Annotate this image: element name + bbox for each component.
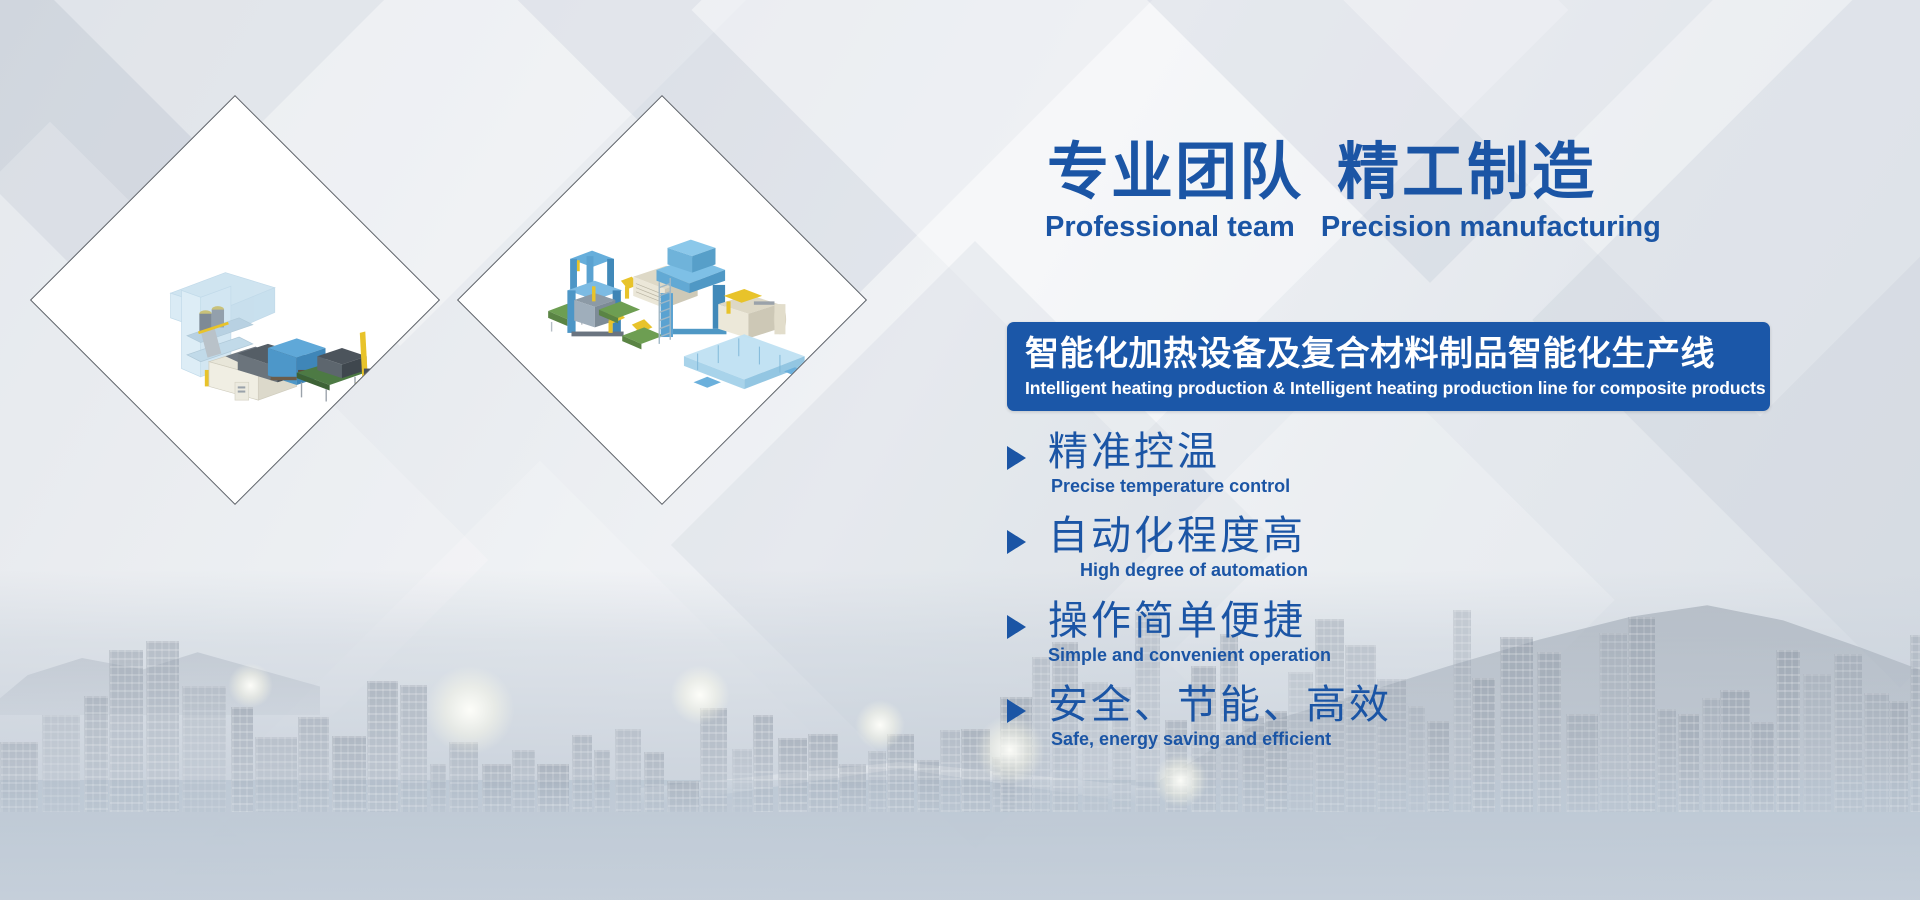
triangle-bullet-icon xyxy=(1007,615,1026,639)
banner-content: 专业团队 精工制造 Professional team Precision ma… xyxy=(1007,140,1807,244)
building xyxy=(182,686,226,812)
building xyxy=(594,750,610,812)
feature-3-cn: 操作简单便捷 xyxy=(1048,599,1331,644)
feature-item-2: 自动化程度高 High degree of automation xyxy=(1007,514,1767,580)
feature-2-cn: 自动化程度高 xyxy=(1048,514,1308,559)
building xyxy=(667,781,698,812)
building xyxy=(732,749,753,812)
feature-item-3: 操作简单便捷 Simple and convenient operation xyxy=(1007,599,1767,665)
building xyxy=(1803,674,1831,812)
building xyxy=(84,696,108,812)
diamond-photo-left xyxy=(30,95,440,505)
triangle-bullet-icon xyxy=(1007,446,1026,470)
production-line-illustration-left xyxy=(91,95,379,505)
building xyxy=(367,681,397,812)
building xyxy=(615,729,641,812)
building xyxy=(255,737,297,812)
feature-3-en: Simple and convenient operation xyxy=(1048,645,1331,666)
building xyxy=(109,650,143,812)
building xyxy=(512,750,535,812)
building xyxy=(1864,693,1889,812)
building xyxy=(1776,650,1800,812)
building xyxy=(537,764,569,812)
diamond-photo-right xyxy=(457,95,867,505)
building xyxy=(400,685,427,812)
feature-4-cn: 安全、节能、高效 xyxy=(1048,683,1392,728)
light-glow xyxy=(1153,753,1208,808)
building xyxy=(231,707,253,812)
building xyxy=(778,738,807,812)
light-glow xyxy=(670,665,730,725)
product-title-en: Intelligent heating production & Intelli… xyxy=(1025,378,1752,399)
building xyxy=(146,641,179,812)
headline-en-part1: Professional team xyxy=(1045,212,1295,244)
triangle-bullet-icon xyxy=(1007,530,1026,554)
building xyxy=(0,742,38,812)
feature-item-1: 精准控温 Precise temperature control xyxy=(1007,430,1767,496)
building xyxy=(808,734,838,812)
feature-list: 精准控温 Precise temperature control 自动化程度高 … xyxy=(1007,430,1767,750)
feature-1-cn: 精准控温 xyxy=(1048,430,1290,475)
building xyxy=(868,751,886,812)
building xyxy=(572,735,592,812)
building xyxy=(644,752,664,812)
building xyxy=(430,764,446,812)
building xyxy=(298,717,329,812)
promo-banner: 专业团队 精工制造 Professional team Precision ma… xyxy=(0,0,1920,900)
building xyxy=(917,760,939,812)
building xyxy=(482,764,510,812)
product-title-bar: 智能化加热设备及复合材料制品智能化生产线 Intelligent heating… xyxy=(1007,322,1770,411)
headline-english: Professional team Precision manufacturin… xyxy=(1007,212,1807,244)
building xyxy=(42,715,80,812)
building xyxy=(839,764,867,812)
building xyxy=(1889,701,1907,812)
light-glow xyxy=(425,665,515,755)
headline-en-part2: Precision manufacturing xyxy=(1321,212,1661,244)
light-glow xyxy=(855,700,905,750)
building xyxy=(332,736,366,812)
building xyxy=(1834,654,1861,812)
headline-cn-part1: 专业团队 xyxy=(1047,140,1303,206)
light-glow xyxy=(228,663,273,708)
building xyxy=(1910,635,1920,812)
building xyxy=(940,730,960,812)
feature-1-en: Precise temperature control xyxy=(1051,476,1290,497)
triangle-bullet-icon xyxy=(1007,699,1026,723)
production-line-illustration-right xyxy=(518,95,806,505)
feature-4-en: Safe, energy saving and efficient xyxy=(1051,729,1392,750)
headline-chinese: 专业团队 精工制造 xyxy=(1007,140,1807,206)
building xyxy=(753,715,773,812)
feature-2-en: High degree of automation xyxy=(1080,560,1308,581)
headline-cn-part2: 精工制造 xyxy=(1337,140,1597,206)
product-title-cn: 智能化加热设备及复合材料制品智能化生产线 xyxy=(1025,335,1752,374)
feature-item-4: 安全、节能、高效 Safe, energy saving and efficie… xyxy=(1007,683,1767,749)
